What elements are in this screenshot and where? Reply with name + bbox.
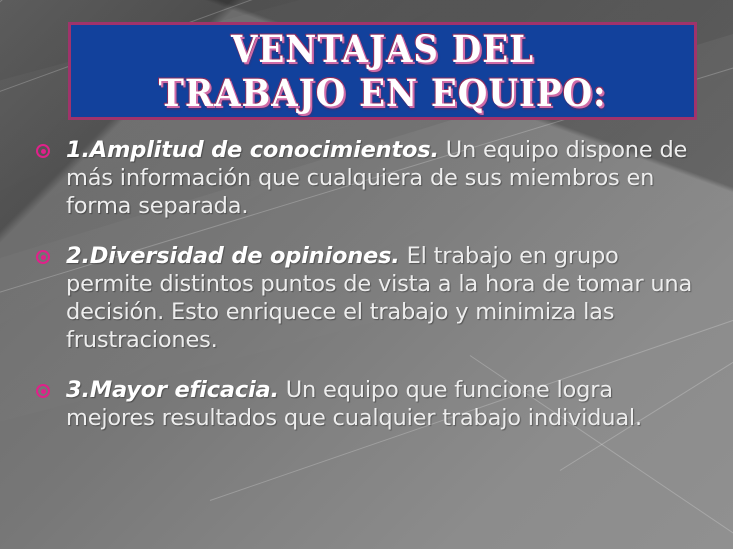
bullet-item-3: 3.Mayor eficacia. Un equipo que funcione… — [36, 376, 706, 432]
slide-title-line-1: VENTAJAS DEL — [231, 27, 534, 71]
bullet-text-2: 2.Diversidad de opiniones. El trabajo en… — [66, 242, 706, 354]
ring-dot-bullet-icon — [36, 144, 50, 158]
bullet-item-1: 1.Amplitud de conocimientos. Un equipo d… — [36, 136, 706, 220]
bullet-lead-2: 2.Diversidad de opiniones. — [66, 243, 400, 269]
bullet-lead-1: 1.Amplitud de conocimientos. — [66, 137, 439, 163]
presentation-slide: VENTAJAS DEL TRABAJO EN EQUIPO: 1.Amplit… — [0, 0, 733, 549]
bullet-text-1: 1.Amplitud de conocimientos. Un equipo d… — [66, 136, 706, 220]
bullet-item-2: 2.Diversidad de opiniones. El trabajo en… — [36, 242, 706, 354]
bullet-text-3: 3.Mayor eficacia. Un equipo que funcione… — [66, 376, 706, 432]
slide-body: 1.Amplitud de conocimientos. Un equipo d… — [36, 136, 706, 454]
slide-title-box: VENTAJAS DEL TRABAJO EN EQUIPO: — [68, 22, 697, 120]
ring-dot-bullet-icon — [36, 250, 50, 264]
slide-title-line-2: TRABAJO EN EQUIPO: — [158, 71, 606, 115]
bullet-lead-3: 3.Mayor eficacia. — [66, 377, 279, 403]
ring-dot-bullet-icon — [36, 384, 50, 398]
